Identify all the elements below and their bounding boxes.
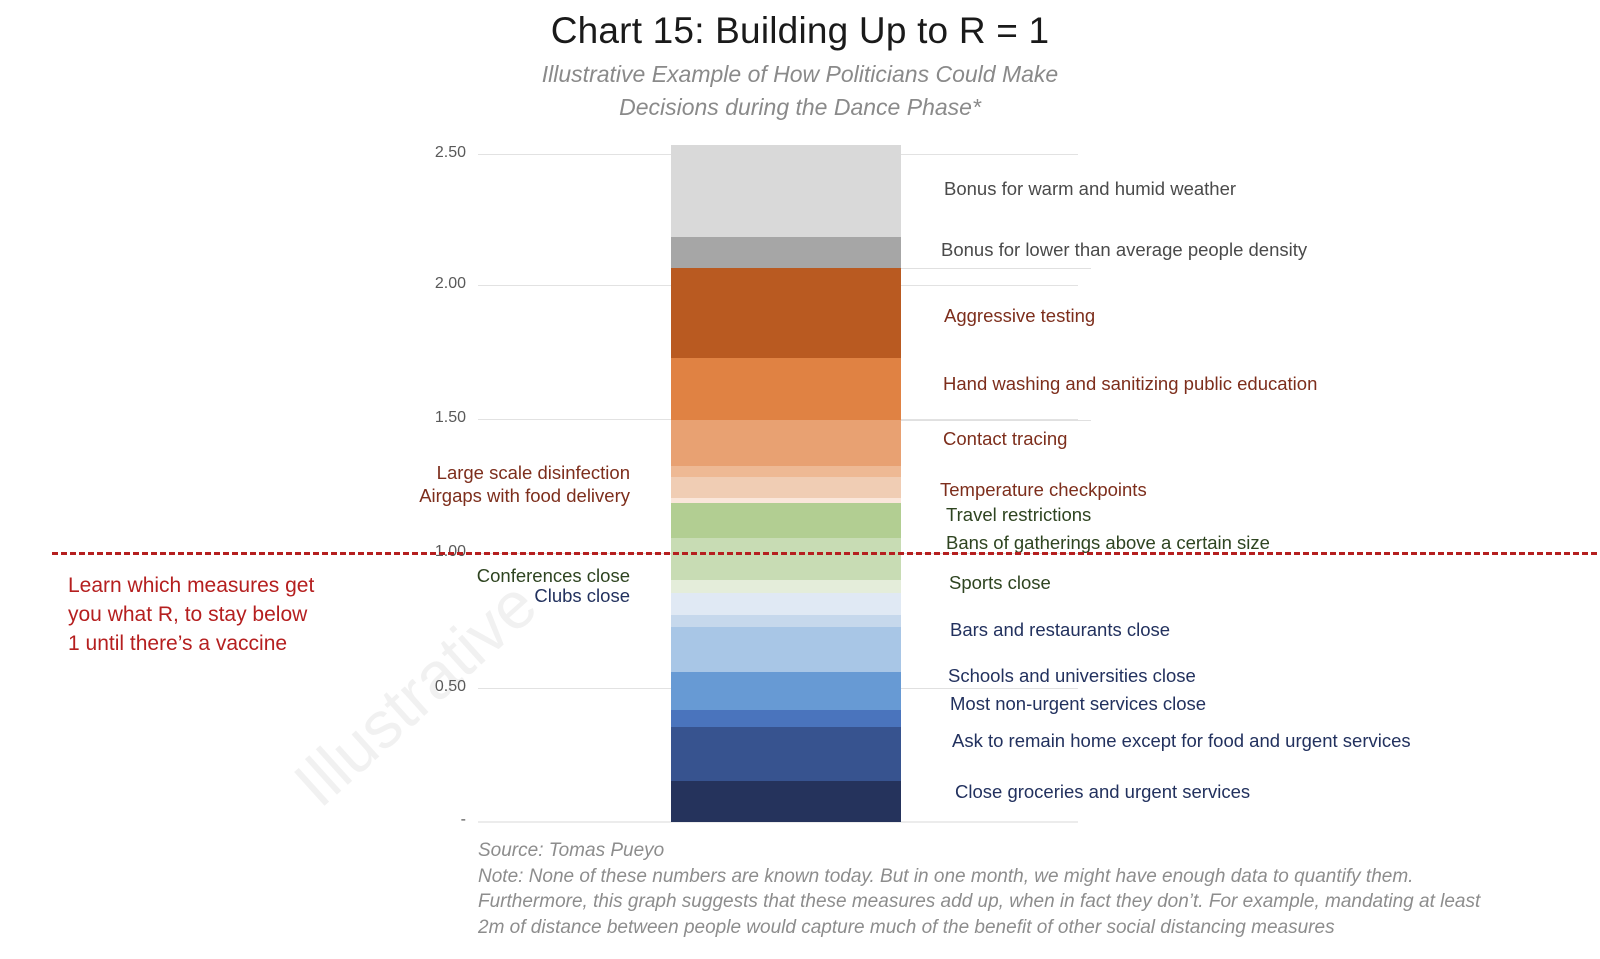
segment-label-bars-restaurants-close: Bars and restaurants close — [950, 619, 1170, 641]
bar-segment-airgaps-food-delivery[interactable] — [671, 477, 901, 498]
note-line-1: Note: None of these numbers are known to… — [478, 864, 1588, 890]
segment-label-temperature-checkpoints: Temperature checkpoints — [940, 479, 1147, 501]
bar-segment-hand-washing-education[interactable] — [671, 358, 901, 420]
tick-label-2-50: 2.50 — [396, 144, 466, 162]
note-line-3: 2m of distance between people would capt… — [478, 915, 1588, 941]
tick-label-2-00: 2.00 — [396, 275, 466, 293]
source-text: Source: Tomas Pueyo — [478, 838, 1588, 864]
bar-segment-close-groceries-urgent-services[interactable] — [671, 781, 901, 822]
bar-segment-aggressive-testing[interactable] — [671, 268, 901, 358]
segment-label-ask-remain-home: Ask to remain home except for food and u… — [952, 730, 1411, 752]
note-line-2: Furthermore, this graph suggests that th… — [478, 889, 1588, 915]
bar-segment-conferences-close[interactable] — [671, 580, 901, 593]
bar-segment-bonus-people-density[interactable] — [671, 237, 901, 268]
segment-label-bonus-people-density: Bonus for lower than average people dens… — [941, 239, 1307, 261]
segment-label-aggressive-testing: Aggressive testing — [944, 305, 1095, 327]
chart-plot-area: Illustrative 2.50 2.00 1.50 1.00 0.50 - … — [0, 0, 1600, 959]
segment-label-schools-universities-close: Schools and universities close — [948, 665, 1196, 687]
bar-segment-bars-restaurants-close[interactable] — [671, 627, 901, 672]
segment-label-travel-restrictions: Travel restrictions — [946, 504, 1091, 526]
annotation-line-2: you what R, to stay below — [68, 600, 398, 629]
tick-label-1-50: 1.50 — [396, 409, 466, 427]
bar-segment-clubs-close[interactable] — [671, 615, 901, 627]
segment-label-close-groceries-urgent: Close groceries and urgent services — [955, 781, 1250, 803]
footer: Source: Tomas Pueyo Note: None of these … — [478, 838, 1588, 940]
annotation-line-3: 1 until there’s a vaccine — [68, 629, 398, 658]
bar-segment-most-non-urgent-services-close[interactable] — [671, 710, 901, 727]
bar-segment-bonus-warm-humid-weather[interactable] — [671, 145, 901, 237]
bar-segment-schools-universities-close[interactable] — [671, 672, 901, 710]
segment-label-bans-of-gatherings: Bans of gatherings above a certain size — [946, 532, 1270, 554]
bar-segment-contact-tracing[interactable] — [671, 420, 901, 466]
segment-label-sports-close: Sports close — [949, 572, 1051, 594]
annotation-line-1: Learn which measures get — [68, 571, 398, 600]
segment-label-contact-tracing: Contact tracing — [943, 428, 1067, 450]
segment-label-bonus-warm-humid-weather: Bonus for warm and humid weather — [944, 178, 1236, 200]
tick-label-0-50: 0.50 — [396, 678, 466, 696]
bar-segment-sports-close[interactable] — [671, 593, 901, 615]
bar-segment-large-scale-disinfection[interactable] — [671, 466, 901, 477]
segment-label-hand-washing-education: Hand washing and sanitizing public educa… — [943, 373, 1317, 395]
leader-line-contact-tracing — [901, 420, 1091, 421]
segment-label-large-scale-disinfection: Large scale disinfection — [300, 461, 630, 484]
bar-segment-travel-restrictions[interactable] — [671, 503, 901, 538]
reference-line-r-equals-1 — [52, 552, 1597, 555]
segment-label-airgaps-food-delivery: Airgaps with food delivery — [300, 484, 630, 507]
leader-line-aggressive-testing — [901, 268, 1091, 269]
bar-segment-ask-remain-home[interactable] — [671, 727, 901, 781]
leader-line-schools-close — [901, 688, 1073, 689]
bar-segment-bans-of-gatherings[interactable] — [671, 538, 901, 580]
tick-label-zero: - — [396, 811, 466, 829]
annotation-learn-measures: Learn which measures get you what R, to … — [68, 571, 398, 658]
segment-label-most-non-urgent-services: Most non-urgent services close — [950, 693, 1206, 715]
